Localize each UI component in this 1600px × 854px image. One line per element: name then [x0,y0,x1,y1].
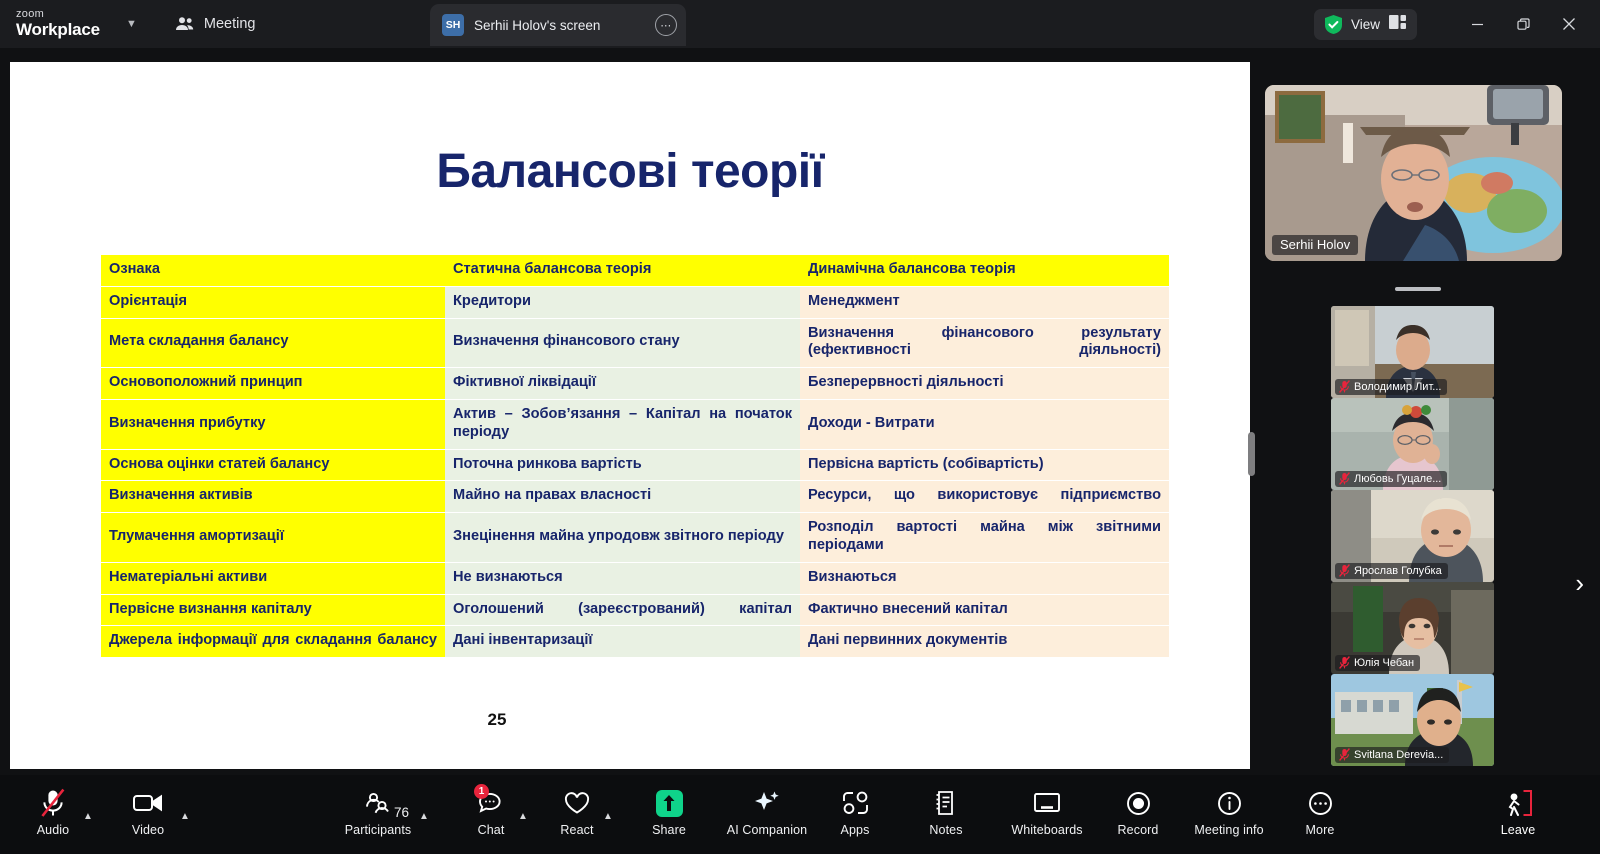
cell-static: Майно на правах власності [445,481,800,513]
participant-name-badge: Юлія Чебан [1335,655,1420,671]
active-speaker-name-badge: Serhii Holov [1272,235,1358,255]
whiteboards-button[interactable]: Whiteboards [987,787,1107,837]
participant-name: Любовь Гуцале... [1354,473,1441,485]
react-caret-icon[interactable]: ▲ [603,811,613,822]
cell-static: Кредитори [445,286,800,318]
video-button[interactable]: Video ▲ [102,787,194,837]
cell-feature: Орієнтація [101,286,445,318]
meeting-tab-label: Meeting [204,16,256,32]
title-bar: zoom Workplace ▼ Meeting SH Serhii Holov… [0,0,1600,48]
more-icon [1308,787,1333,819]
cell-feature: Первісне визнання капіталу [101,594,445,626]
participant-name: Serhii Holov [1280,237,1350,252]
table-row: Основоположний принцип Фіктивної ліквіда… [101,368,1169,400]
chat-label: Chat [478,823,505,837]
share-label: Share [652,823,686,837]
participant-name: Svitlana Derevia... [1354,749,1443,761]
share-screen-icon [656,787,683,819]
cell-dynamic: Ресурси, що використовує підприємство [800,481,1169,513]
participant-name: Ярослав Голубка [1354,565,1442,577]
ai-sparkle-icon [752,787,782,819]
column-header-feature: Ознака [101,255,445,286]
cell-static: Оголошений (зареєстрований) капітал [445,594,800,626]
table-body: Ознака Статична балансова теорія Динаміч… [101,255,1169,658]
cell-feature: Визначення активів [101,481,445,513]
shield-icon [1325,15,1342,34]
cell-static: Визначення фінансового стану [445,318,800,368]
close-button[interactable] [1546,8,1592,40]
chat-button[interactable]: 1 Chat ▲ [445,787,537,837]
view-button[interactable]: View [1314,9,1417,40]
table-row: Мета складання балансу Визначення фінанс… [101,318,1169,368]
cell-static: Фіктивної ліквідації [445,368,800,400]
cell-static: Поточна ринкова вартість [445,449,800,481]
participants-icon [365,787,391,819]
audio-label: Audio [37,823,69,837]
chat-unread-badge: 1 [474,784,489,799]
cell-dynamic: Визначення фінансового результату (ефект… [800,318,1169,368]
table-row: Первісне визнання капіталу Оголошений (з… [101,594,1169,626]
window-controls [1454,8,1592,40]
react-label: React [560,823,593,837]
balance-theories-table: Ознака Статична балансова теорія Динаміч… [101,255,1169,658]
microphone-muted-icon [40,787,66,819]
chevron-right-icon[interactable]: › [1575,568,1584,599]
cell-dynamic: Дані первинних документів [800,626,1169,658]
heart-icon [564,787,590,819]
cell-feature: Визначення прибутку [101,399,445,449]
table-row: Нематеріальні активи Не визнаються Визна… [101,562,1169,594]
participant-name: Володимир Лит... [1354,381,1441,393]
record-icon [1126,787,1151,819]
leave-label: Leave [1501,823,1536,837]
tab-more-icon[interactable]: ⋯ [655,14,677,36]
participant-tile[interactable]: Svitlana Derevia... [1331,674,1494,766]
view-button-label: View [1351,17,1380,32]
slide-page-number: 25 [488,710,507,729]
cell-dynamic: Доходи - Витрати [800,399,1169,449]
column-header-dynamic: Динамічна балансова теорія [800,255,1169,286]
chat-caret-icon[interactable]: ▲ [518,811,528,822]
camera-icon [133,787,163,819]
table-header-row: Ознака Статична балансова теорія Динаміч… [101,255,1169,286]
cell-dynamic: Безперервності діяльності [800,368,1169,400]
participants-button[interactable]: 76 Participants ▲ [332,787,424,837]
microphone-muted-icon [1339,748,1350,761]
audio-options-caret-icon[interactable]: ▲ [83,811,93,822]
chevron-down-icon[interactable]: ▼ [126,18,137,30]
slide-title: Балансові теорії [10,62,1250,199]
participant-tile[interactable]: Ярослав Голубка [1331,490,1494,582]
shared-screen-tab-label: Serhii Holov's screen [474,18,600,33]
participant-name-badge: Любовь Гуцале... [1335,471,1447,487]
record-label: Record [1118,823,1159,837]
cell-static: Знецінення майна упродовж звітного періо… [445,513,800,563]
participant-tile[interactable]: Любовь Гуцале... [1331,398,1494,490]
slide-page-number-wrap: 25 [10,710,1250,730]
participant-name-badge: Svitlana Derevia... [1335,747,1449,763]
share-green-square [656,790,683,817]
table-row: Тлумачення амортизації Знецінення майна … [101,513,1169,563]
people-icon [175,16,195,32]
table-row: Джерела інформації для складання балансу… [101,626,1169,658]
video-options-caret-icon[interactable]: ▲ [180,811,190,822]
chat-icon: 1 [477,787,505,819]
minimize-button[interactable] [1454,8,1500,40]
zoom-meeting-window: zoom Workplace ▼ Meeting SH Serhii Holov… [0,0,1600,854]
microphone-muted-icon [1339,380,1350,393]
meeting-info-label: Meeting info [1194,823,1263,837]
cell-dynamic: Визнаються [800,562,1169,594]
whiteboards-label: Whiteboards [1011,823,1082,837]
cell-static: Не визнаються [445,562,800,594]
microphone-muted-icon [1339,472,1350,485]
cell-static: Актив – Зобов’язання – Капітал на почато… [445,399,800,449]
video-label: Video [132,823,164,837]
more-button[interactable]: More [1274,787,1366,837]
cell-dynamic: Фактично внесений капітал [800,594,1169,626]
participant-name: Юлія Чебан [1354,657,1414,669]
notes-label: Notes [929,823,962,837]
share-button[interactable]: Share [623,787,715,837]
cell-static: Дані інвентаризації [445,626,800,658]
participants-rail: Serhii Holov [1260,52,1600,770]
panel-resize-handle[interactable] [1248,432,1255,476]
zoom-workplace-logo: zoom Workplace [16,9,112,38]
meeting-tab[interactable]: Meeting [175,16,256,32]
table-row: Основа оцінки статей балансу Поточна рин… [101,449,1169,481]
apps-label: Apps [841,823,870,837]
apps-icon [842,787,869,819]
avatar: SH [442,14,464,36]
whiteboard-icon [1033,787,1061,819]
info-icon [1217,787,1242,819]
cell-feature: Тлумачення амортизації [101,513,445,563]
notes-icon [934,787,958,819]
participants-count: 76 [394,805,409,820]
participants-label: Participants [345,823,412,837]
microphone-muted-icon [1339,564,1350,577]
cell-dynamic: Розподіл вартості майна між звітними пер… [800,513,1169,563]
active-speaker-tile[interactable]: Serhii Holov [1265,85,1562,261]
participant-name-badge: Ярослав Голубка [1335,563,1448,579]
cell-feature: Джерела інформації для складання балансу [101,626,445,658]
notes-button[interactable]: Notes [900,787,992,837]
cell-feature: Основоположний принцип [101,368,445,400]
table-row: Орієнтація Кредитори Менеджмент [101,286,1169,318]
leave-button[interactable]: Leave [1472,787,1564,837]
restore-button[interactable] [1500,8,1546,40]
table-row: Визначення активів Майно на правах власн… [101,481,1169,513]
cell-feature: Основа оцінки статей балансу [101,449,445,481]
more-label: More [1306,823,1335,837]
cell-feature: Мета складання балансу [101,318,445,368]
participant-tile[interactable]: Володимир Лит... [1331,306,1494,398]
rail-divider[interactable] [1395,287,1441,291]
participant-tile[interactable]: Юлія Чебан [1331,582,1494,674]
react-button[interactable]: React ▲ [531,787,623,837]
meeting-toolbar: Audio ▲ Video ▲ 76 Participants ▲ [0,775,1600,854]
brand-workplace-text: Workplace [16,21,112,39]
microphone-muted-icon [1339,656,1350,669]
column-header-static: Статична балансова теорія [445,255,800,286]
shared-screen-tab[interactable]: SH Serhii Holov's screen ⋯ [430,4,686,46]
cell-feature: Нематеріальні активи [101,562,445,594]
leave-door-icon [1503,787,1533,819]
table-row: Визначення прибутку Актив – Зобов’язання… [101,399,1169,449]
apps-button[interactable]: Apps [809,787,901,837]
participant-name-badge: Володимир Лит... [1335,379,1447,395]
cell-dynamic: Первісна вартість (собівартість) [800,449,1169,481]
shared-screen-content[interactable]: Балансові теорії Ознака Статична балансо… [10,62,1250,769]
view-layout-icon [1389,15,1406,34]
cell-dynamic: Менеджмент [800,286,1169,318]
ai-companion-label: AI Companion [727,823,807,837]
audio-button[interactable]: Audio ▲ [7,787,99,837]
participants-caret-icon[interactable]: ▲ [419,811,429,822]
